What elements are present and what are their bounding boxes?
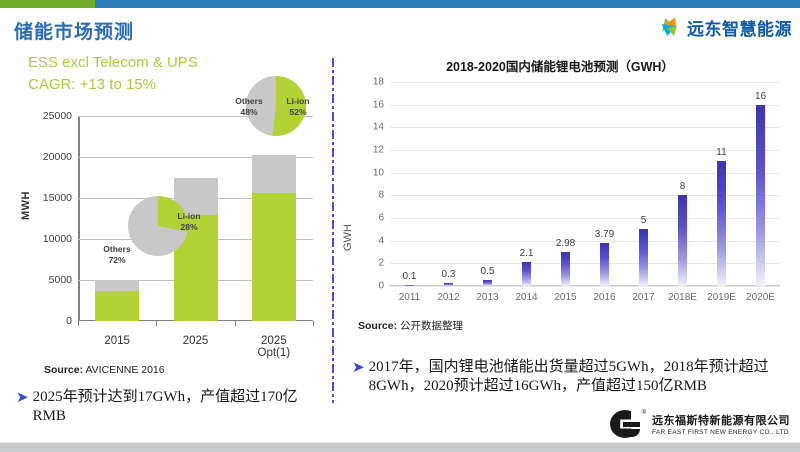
right-chart-bar-value: 11 — [716, 147, 726, 158]
left-chart-y-tick: 0 — [22, 315, 72, 327]
right-chart-bar-value: 2.1 — [520, 248, 534, 259]
right-chart-y-tick: 16 — [344, 99, 384, 110]
left-chart-x-minor-tick — [313, 321, 314, 326]
bottom-accent-bar — [0, 443, 800, 452]
right-chart-title: 2018-2020国内储能锂电池预测（GWH） — [340, 56, 780, 75]
right-chart-x-tick: 2014 — [515, 292, 537, 303]
right-chart-bar — [717, 161, 726, 286]
brand-logo: 远东智慧能源 — [659, 14, 792, 40]
left-chart-bar — [174, 178, 218, 321]
right-chart-bar — [561, 252, 570, 286]
left-chart-source-prefix: Source: — [44, 364, 83, 376]
pie-2025opt-others-label: Others48% — [228, 96, 270, 118]
ess-market-stacked-bar-chart: MWH 050001000015000200002500020152025202… — [22, 108, 322, 360]
left-chart-y-tick: 25000 — [22, 110, 72, 122]
left-chart-y-tick: 15000 — [22, 192, 72, 204]
left-chart-source-value: AVICENNE 2016 — [85, 364, 164, 376]
left-chart-bar-segment-others — [252, 155, 296, 194]
left-chart-source: Source: AVICENNE 2016 — [44, 364, 165, 376]
top-accent-bar-blue — [95, 0, 800, 8]
left-chart-y-tick: 5000 — [22, 274, 72, 286]
left-bullet-text: 2025年预计达到17GWh，产值超过170亿RMB — [33, 388, 316, 426]
right-chart-x-tick: 2013 — [476, 292, 498, 303]
left-chart-x-tick: 2025 — [183, 335, 209, 347]
far-east-emblem-icon: ® — [610, 410, 646, 438]
pinwheel-logo-icon — [659, 16, 683, 38]
right-chart-x-tick: 2015 — [554, 292, 576, 303]
footer-company-logo: ® 远东福斯特新能源有限公司 FAR EAST FIRST NEW ENERGY… — [610, 410, 790, 438]
right-chart-bar-value: 2.98 — [556, 238, 575, 249]
top-accent-bar — [0, 0, 800, 8]
right-chart-bar-value: 0.1 — [403, 271, 417, 282]
right-chart-bar — [639, 229, 648, 286]
right-chart-bar — [483, 280, 492, 286]
right-bullet: ➤ 2017年，国内锂电池储能出货量超过5GWh，2018年预计超过8GWh，2… — [352, 358, 792, 396]
ess-caption-line2: CAGR: +13 to 15% — [28, 74, 198, 96]
pie-2015-others-label-value: 72% — [96, 255, 138, 266]
left-chart-x-tick: 2015 — [104, 335, 130, 347]
footer-company-name-en: FAR EAST FIRST NEW ENERGY CO., LTD — [652, 429, 790, 436]
right-chart-gridline — [390, 286, 780, 287]
left-chart-bar — [95, 280, 139, 321]
right-chart-bar — [678, 195, 687, 286]
left-chart-bar — [252, 155, 296, 321]
right-chart-bar — [600, 243, 609, 286]
left-chart-y-tick: 20000 — [22, 151, 72, 163]
pie-2015-liion-label-value: 28% — [168, 222, 210, 233]
left-chart-bar-segment-others — [95, 280, 139, 291]
right-chart-bar — [405, 285, 414, 287]
top-accent-bar-green — [0, 0, 95, 8]
left-chart-x-tick: 2025 Opt(1) — [254, 335, 293, 359]
right-chart-x-tick: 2016 — [593, 292, 615, 303]
right-bullet-text: 2017年，国内锂电池储能出货量超过5GWh，2018年预计超过8GWh，202… — [369, 358, 792, 396]
right-chart-source: Source: 公开数据整理 — [358, 318, 463, 333]
pie-2015-others-label-name: Others — [96, 244, 138, 255]
left-chart-x-minor-tick — [78, 321, 79, 326]
right-chart-gridline — [390, 105, 780, 106]
right-chart-x-tick: 2017 — [632, 292, 654, 303]
right-chart-y-tick: 14 — [344, 122, 384, 133]
right-chart-y-tick: 0 — [344, 281, 384, 292]
left-chart-y-axis-line — [78, 116, 80, 321]
pie-2025opt-others-label-value: 48% — [228, 107, 270, 118]
right-chart-bar — [444, 283, 453, 286]
left-chart-x-minor-tick — [235, 321, 236, 326]
left-chart-bar-segment-liion — [95, 291, 139, 321]
right-chart-x-tick: 2011 — [399, 292, 421, 303]
right-chart-x-tick: 2012 — [437, 292, 459, 303]
panel-divider — [332, 58, 334, 403]
pie-2025opt-liion-label: Li-ion52% — [278, 96, 318, 118]
left-chart-bar-segment-liion — [252, 193, 296, 321]
ess-caption: ESS excl Telecom & UPS CAGR: +13 to 15% — [28, 52, 198, 96]
pie-2015-liion-label-name: Li-ion — [168, 211, 210, 222]
right-chart-bar-value: 0.3 — [442, 269, 456, 280]
right-chart-x-tick: 2018E — [668, 292, 697, 303]
brand-logo-label: 远东智慧能源 — [687, 15, 792, 40]
ess-caption-line1: ESS excl Telecom & UPS — [28, 52, 198, 74]
left-chart-x-minor-tick — [156, 321, 157, 326]
left-bullet: ➤ 2025年预计达到17GWh，产值超过170亿RMB — [16, 388, 316, 426]
right-chart-bar — [756, 105, 765, 286]
china-ess-lithium-forecast-chart: 2018-2020国内储能锂电池预测（GWH） GWH 024681012141… — [340, 56, 800, 346]
bullet-arrow-icon: ➤ — [352, 358, 365, 377]
right-chart-gridline — [390, 127, 780, 128]
pie-2015-liion-label: Li-ion28% — [168, 211, 210, 233]
pie-2015-others-label: Others72% — [96, 244, 138, 266]
right-chart-y-tick: 4 — [344, 235, 384, 246]
right-chart-y-tick: 18 — [344, 77, 384, 88]
registered-mark-icon: ® — [642, 410, 646, 416]
footer-company-name-cn: 远东福斯特新能源有限公司 — [652, 412, 790, 428]
left-chart-y-tick: 10000 — [22, 233, 72, 245]
left-chart-plot-area: 0500010000150002000025000201520252025 Op… — [78, 116, 313, 321]
right-chart-y-tick: 10 — [344, 167, 384, 178]
right-chart-bar-value: 5 — [641, 215, 647, 226]
right-chart-plot-area: 0246810121416180.120110.320120.520132.12… — [390, 82, 780, 286]
right-chart-y-tick: 2 — [344, 258, 384, 269]
right-chart-gridline — [390, 82, 780, 83]
right-chart-bar-value: 3.79 — [595, 229, 614, 240]
pie-2025opt-liion-label-value: 52% — [278, 107, 318, 118]
right-chart-bar — [522, 262, 531, 286]
bullet-arrow-icon: ➤ — [16, 388, 29, 407]
right-chart-y-tick: 8 — [344, 190, 384, 201]
right-chart-y-tick: 12 — [344, 145, 384, 156]
right-chart-bar-value: 16 — [755, 91, 766, 102]
pie-2025opt-liion-label-name: Li-ion — [278, 96, 318, 107]
pie-2025opt-others-label-name: Others — [228, 96, 270, 107]
right-chart-x-tick: 2020E — [746, 292, 775, 303]
right-chart-x-tick: 2019E — [707, 292, 736, 303]
page-title: 储能市场预测 — [14, 17, 134, 44]
right-chart-source-prefix: Source: — [358, 320, 397, 332]
right-chart-bar-value: 0.5 — [481, 266, 495, 277]
right-chart-bar-value: 8 — [680, 181, 686, 192]
right-chart-source-value: 公开数据整理 — [400, 320, 463, 332]
right-chart-y-tick: 6 — [344, 213, 384, 224]
